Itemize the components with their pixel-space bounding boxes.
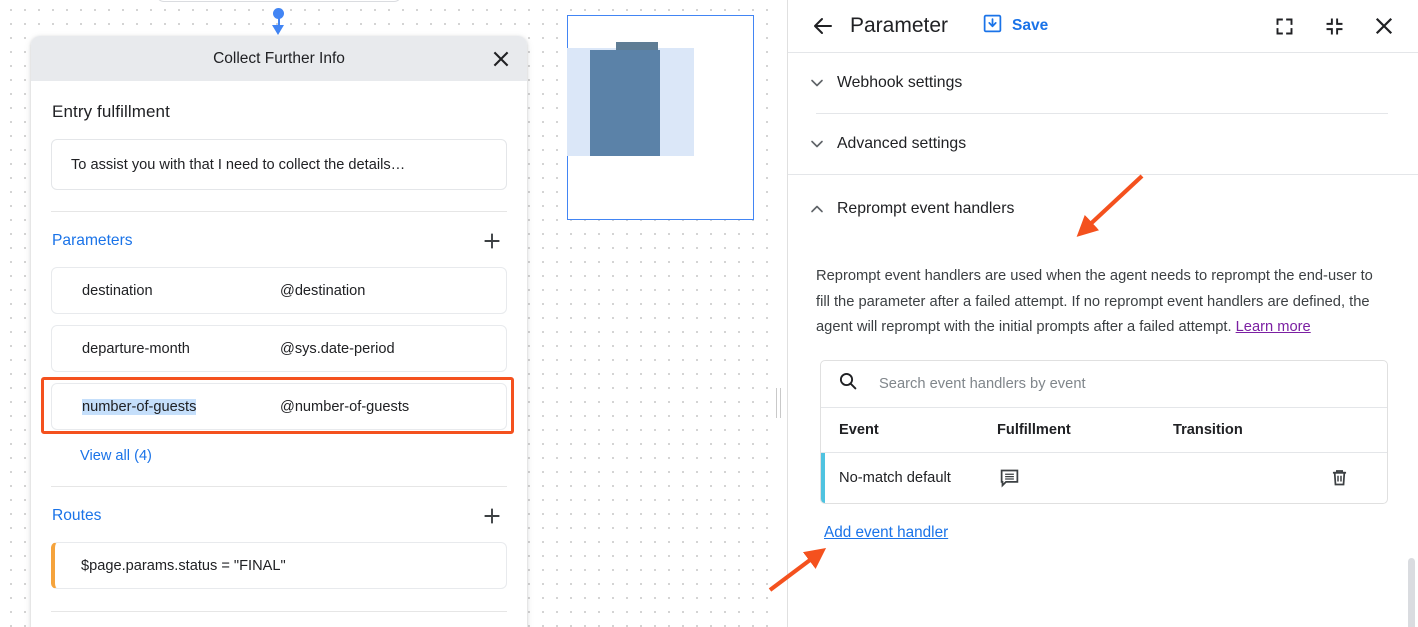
column-header-fulfillment: Fulfillment — [997, 422, 1173, 438]
search-input-placeholder: Search event handlers by event — [879, 376, 1086, 392]
reprompt-description: Reprompt event handlers are used when th… — [788, 242, 1418, 341]
table-row[interactable]: No-match default — [821, 453, 1387, 503]
panel-body: Webhook settings Advanced settings Repro… — [788, 53, 1418, 627]
save-label: Save — [1012, 17, 1048, 35]
routes-section-header: Routes — [51, 487, 507, 542]
add-event-handler-link[interactable]: Add event handler — [788, 504, 948, 542]
search-event-handlers[interactable]: Search event handlers by event — [821, 361, 1387, 408]
parameter-name: departure-month — [52, 341, 280, 357]
table-header-row: Event Fulfillment Transition — [821, 408, 1387, 453]
column-header-transition: Transition — [1173, 422, 1327, 438]
route-row[interactable]: $page.params.status = "FINAL" — [51, 542, 507, 589]
save-button[interactable]: Save — [982, 13, 1048, 39]
routes-label[interactable]: Routes — [52, 507, 101, 525]
cell-fulfillment — [997, 466, 1173, 490]
entry-fulfillment-heading: Entry fulfillment — [51, 81, 507, 122]
event-handlers-table: Search event handlers by event Event Ful… — [820, 360, 1388, 504]
node-header: Collect Further Info — [31, 36, 527, 81]
cell-event: No-match default — [821, 470, 997, 486]
collapse-icon[interactable] — [1322, 14, 1346, 38]
flow-canvas[interactable]: Collect Further Info Entry fulfillment T… — [0, 0, 779, 627]
parameter-name-text: number-of-guests — [82, 399, 196, 415]
section-webhook-settings[interactable]: Webhook settings — [788, 53, 1418, 113]
divider — [51, 611, 507, 612]
cell-actions — [1327, 466, 1387, 490]
parameter-entity: @destination — [280, 283, 365, 299]
parameter-row[interactable]: destination @destination — [51, 267, 507, 314]
add-route-button[interactable] — [479, 503, 505, 529]
panel-scrollbar[interactable] — [1408, 558, 1415, 627]
parameters-label[interactable]: Parameters — [52, 232, 133, 250]
entry-fulfillment-message[interactable]: To assist you with that I need to collec… — [51, 139, 507, 190]
parameter-name: number-of-guests — [52, 399, 280, 415]
page-node-card[interactable]: Collect Further Info Entry fulfillment T… — [31, 36, 527, 627]
node-body: Entry fulfillment To assist you with tha… — [31, 81, 527, 612]
node-title: Collect Further Info — [213, 50, 345, 68]
minimap-node-block — [590, 50, 660, 156]
close-icon[interactable] — [488, 46, 514, 72]
section-label: Webhook settings — [837, 74, 962, 92]
connector-arrow-icon — [272, 25, 284, 35]
trash-icon[interactable] — [1327, 466, 1351, 490]
chevron-up-icon — [806, 198, 828, 220]
parameter-entity: @sys.date-period — [280, 341, 395, 357]
section-advanced-settings[interactable]: Advanced settings — [788, 114, 1418, 174]
parameter-row[interactable]: departure-month @sys.date-period — [51, 325, 507, 372]
section-label: Reprompt event handlers — [837, 200, 1014, 218]
flow-minimap-thumbnail[interactable] — [567, 15, 754, 220]
panel-header-actions — [1272, 14, 1418, 38]
chevron-down-icon — [806, 133, 828, 155]
previous-node-card[interactable] — [156, 0, 402, 2]
parameter-entity: @number-of-guests — [280, 399, 409, 415]
parameter-panel: Parameter Save — [788, 0, 1418, 627]
parameters-section-header: Parameters — [51, 212, 507, 267]
chevron-down-icon — [806, 72, 828, 94]
close-icon[interactable] — [1372, 14, 1396, 38]
message-icon[interactable] — [997, 466, 1021, 490]
add-parameter-button[interactable] — [479, 228, 505, 254]
search-icon — [838, 371, 858, 396]
panel-header: Parameter Save — [788, 0, 1418, 53]
section-reprompt-event-handlers[interactable]: Reprompt event handlers — [788, 175, 1418, 242]
parameter-name: destination — [52, 283, 280, 299]
parameter-row-selected[interactable]: number-of-guests @number-of-guests — [51, 383, 507, 430]
view-all-parameters-link[interactable]: View all (4) — [51, 440, 507, 464]
save-icon — [982, 13, 1003, 39]
expand-icon[interactable] — [1272, 14, 1296, 38]
learn-more-link[interactable]: Learn more — [1236, 319, 1311, 335]
panel-resize-handle[interactable] — [775, 388, 783, 418]
back-arrow-icon[interactable] — [808, 11, 838, 41]
page-title: Parameter — [850, 14, 948, 38]
section-label: Advanced settings — [837, 135, 966, 153]
column-header-event: Event — [821, 422, 997, 438]
